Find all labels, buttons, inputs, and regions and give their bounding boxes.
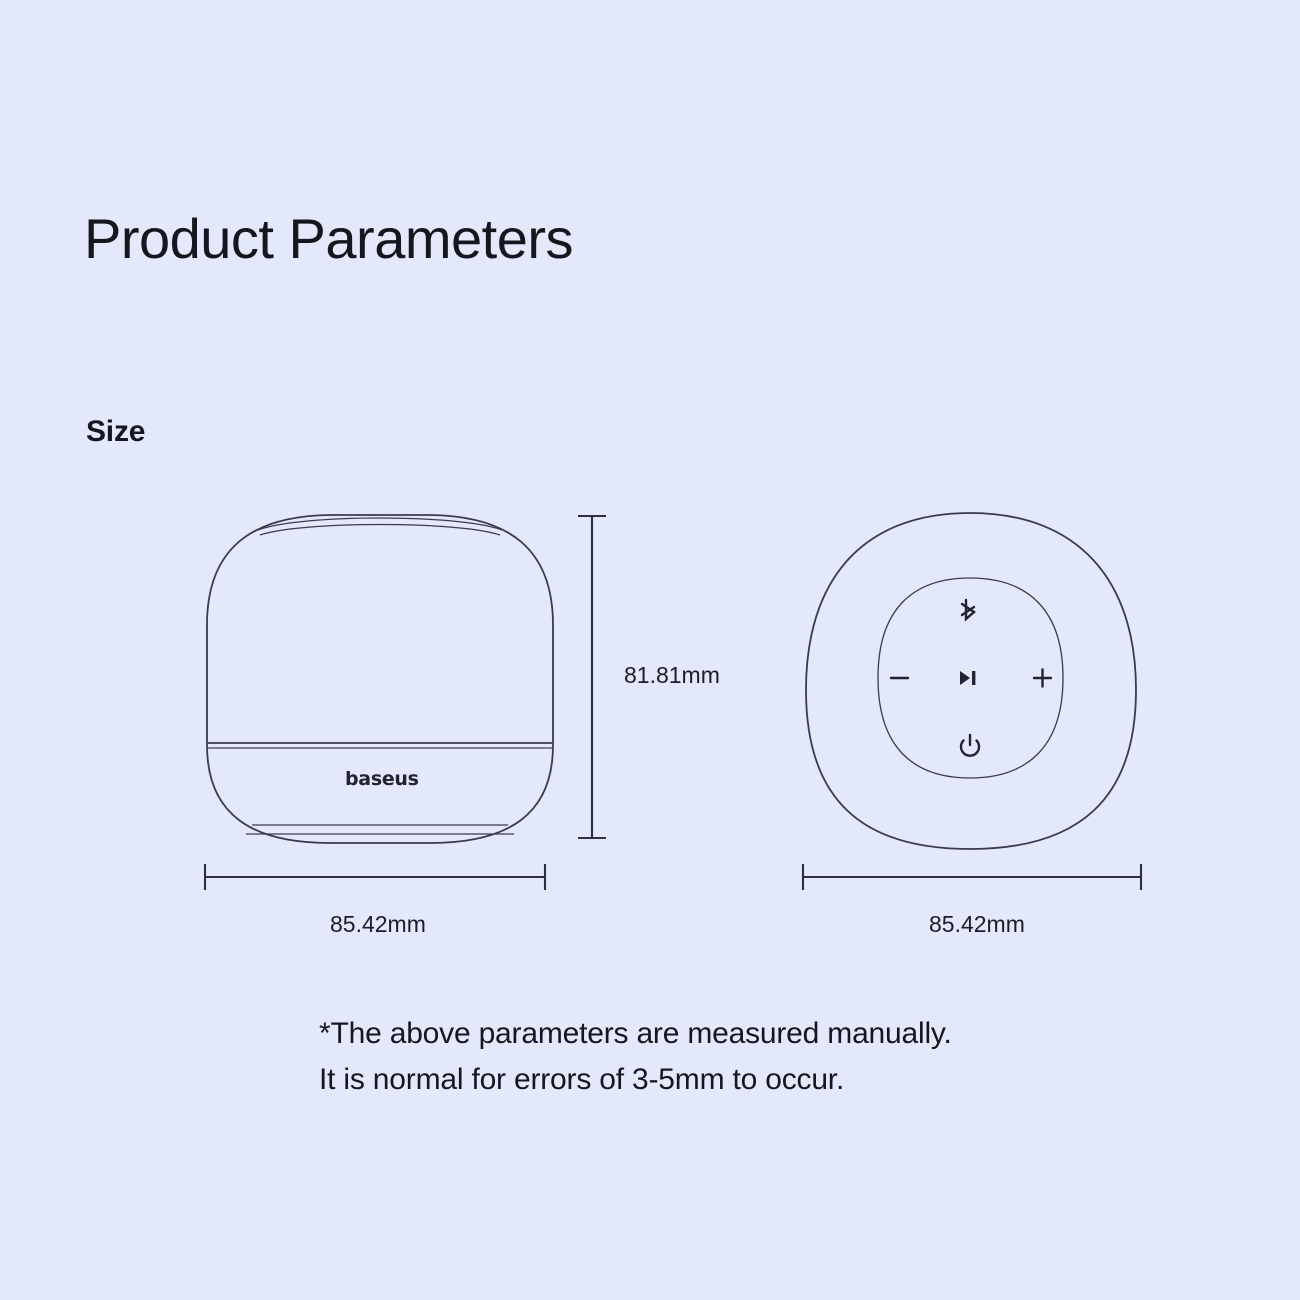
product-parameters-page: Product Parameters Size .ln { fill:none;… (0, 0, 1300, 1300)
power-icon[interactable] (961, 735, 979, 756)
footnote-line-1: *The above parameters are measured manua… (319, 1011, 952, 1057)
control-panel-outline (878, 578, 1063, 778)
bluetooth-icon[interactable] (962, 600, 974, 619)
footnote-line-2: It is normal for errors of 3-5mm to occu… (319, 1057, 952, 1103)
section-title-size: Size (86, 417, 145, 447)
top-view-group (803, 513, 1141, 890)
front-width-dimension-label: 85.42mm (330, 913, 426, 936)
front-width-dimension-line (205, 864, 545, 890)
page-title: Product Parameters (84, 211, 573, 267)
speaker-top-lid-arc (258, 518, 502, 530)
height-dimension-label: 81.81mm (624, 664, 720, 687)
speaker-top-lid-inner-arc (260, 525, 500, 536)
plus-icon[interactable] (1034, 670, 1051, 687)
play-pause-icon[interactable] (960, 671, 975, 685)
baseus-brand-logo: baseus (345, 770, 419, 789)
top-width-dimension-label: 85.42mm (929, 913, 1025, 936)
speaker-body-outline (207, 515, 553, 843)
top-view-outer-outline (806, 513, 1136, 849)
height-dimension-line (578, 516, 606, 838)
size-diagrams: .ln { fill:none; stroke:#3a3a50; stroke-… (0, 0, 1300, 1300)
measurement-footnote: *The above parameters are measured manua… (319, 1011, 952, 1103)
front-view-group (205, 515, 606, 890)
size-diagram-svg: .ln { fill:none; stroke:#3a3a50; stroke-… (0, 0, 1300, 1300)
top-width-dimension-line (803, 864, 1141, 890)
